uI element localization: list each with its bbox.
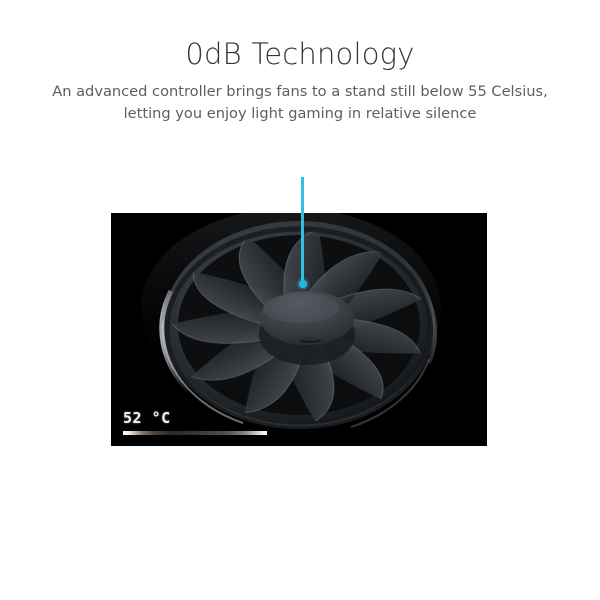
subtitle-line-2: letting you enjoy light gaming in relati… [0, 103, 600, 125]
pointer-dot-icon [299, 280, 307, 288]
product-feature-slide: 0dB Technology An advanced controller br… [0, 0, 600, 600]
heading-block: 0dB Technology An advanced controller br… [0, 34, 600, 125]
page-subtitle: An advanced controller brings fans to a … [0, 74, 600, 125]
fan-hub [259, 291, 355, 365]
pointer-line-icon [301, 177, 304, 285]
fan-body [162, 221, 435, 429]
temperature-hud: 52 °C [123, 410, 269, 435]
product-image-panel: 52 °C [111, 213, 487, 446]
temperature-readout: 52 °C [123, 410, 269, 426]
subtitle-line-1: An advanced controller brings fans to a … [0, 81, 600, 103]
callout-pointer [301, 177, 304, 289]
temperature-gradient-bar-icon [123, 431, 267, 435]
page-title: 0dB Technology [0, 34, 600, 74]
